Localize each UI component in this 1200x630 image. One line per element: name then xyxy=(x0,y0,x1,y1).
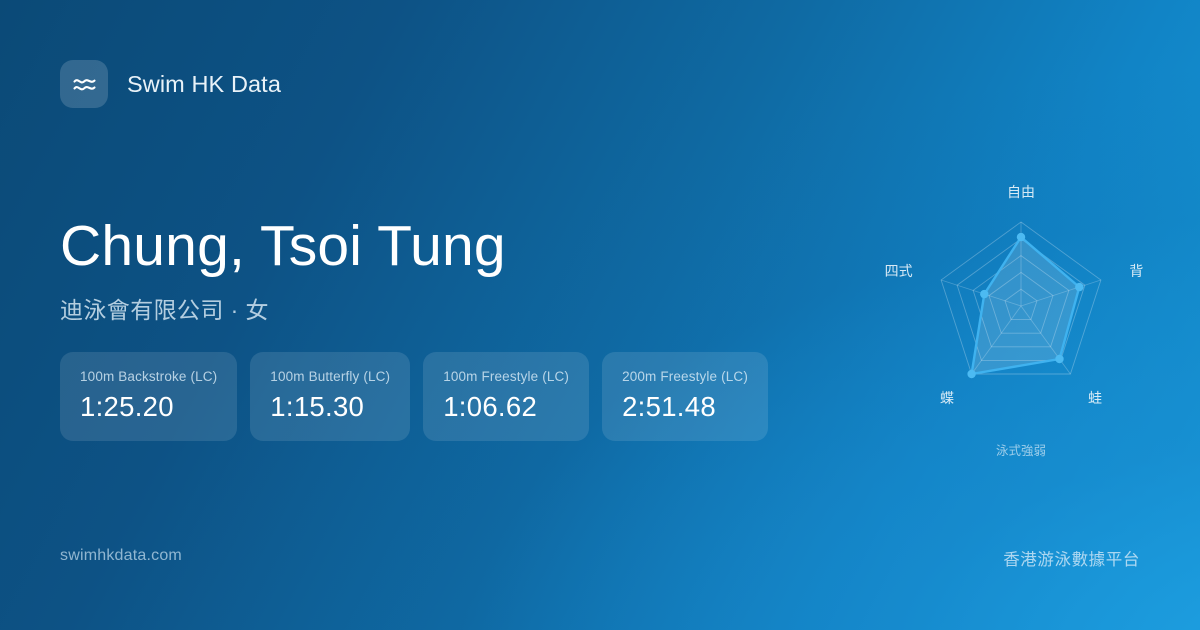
stat-card: 100m Butterfly (LC) 1:15.30 xyxy=(250,352,410,441)
athlete-subtitle: 迪泳會有限公司 · 女 xyxy=(60,291,506,325)
stat-card: 100m Backstroke (LC) 1:25.20 xyxy=(60,352,237,441)
stat-time-value: 2:51.48 xyxy=(622,391,748,423)
radar-data-point xyxy=(980,290,988,298)
radar-axis-label: 四式 xyxy=(885,263,913,279)
stat-card: 100m Freestyle (LC) 1:06.62 xyxy=(423,352,589,441)
footer-tagline: 香港游泳數據平台 xyxy=(1003,546,1140,570)
page-title: Chung, Tsoi Tung xyxy=(60,216,506,278)
radar-data-point xyxy=(1075,283,1083,291)
app-logo xyxy=(60,60,108,108)
radar-data-point xyxy=(1017,233,1025,241)
radar-axis-label: 蛙 xyxy=(1088,390,1102,406)
radar-axis-label: 背 xyxy=(1129,263,1143,279)
stat-event-label: 200m Freestyle (LC) xyxy=(622,369,748,384)
athlete-header: Chung, Tsoi Tung 迪泳會有限公司 · 女 xyxy=(60,216,506,325)
wave-icon xyxy=(71,71,98,98)
stat-event-label: 100m Butterfly (LC) xyxy=(270,369,390,384)
stat-event-label: 100m Backstroke (LC) xyxy=(80,369,217,384)
radar-axis-label: 蝶 xyxy=(940,390,954,406)
share-card: Swim HK Data Chung, Tsoi Tung 迪泳會有限公司 · … xyxy=(0,0,1200,630)
stat-event-label: 100m Freestyle (LC) xyxy=(443,369,569,384)
radar-data-point xyxy=(967,370,975,378)
stat-time-value: 1:15.30 xyxy=(270,391,390,423)
footer-site-url: swimhkdata.com xyxy=(60,547,182,565)
radar-data-point xyxy=(1055,355,1063,363)
stat-time-value: 1:06.62 xyxy=(443,391,569,423)
radar-svg: 自由背蛙蝶四式 泳式強弱 xyxy=(870,165,1175,475)
radar-axis-label: 自由 xyxy=(1007,184,1035,200)
best-times-list: 100m Backstroke (LC) 1:25.20 100m Butter… xyxy=(60,352,768,441)
stroke-strength-radar-chart: 自由背蛙蝶四式 泳式強弱 xyxy=(870,165,1175,475)
brand-name: Swim HK Data xyxy=(127,71,281,98)
stat-time-value: 1:25.20 xyxy=(80,391,217,423)
radar-caption: 泳式強弱 xyxy=(996,444,1046,458)
stat-card: 200m Freestyle (LC) 2:51.48 xyxy=(602,352,768,441)
brand-header: Swim HK Data xyxy=(60,60,281,108)
